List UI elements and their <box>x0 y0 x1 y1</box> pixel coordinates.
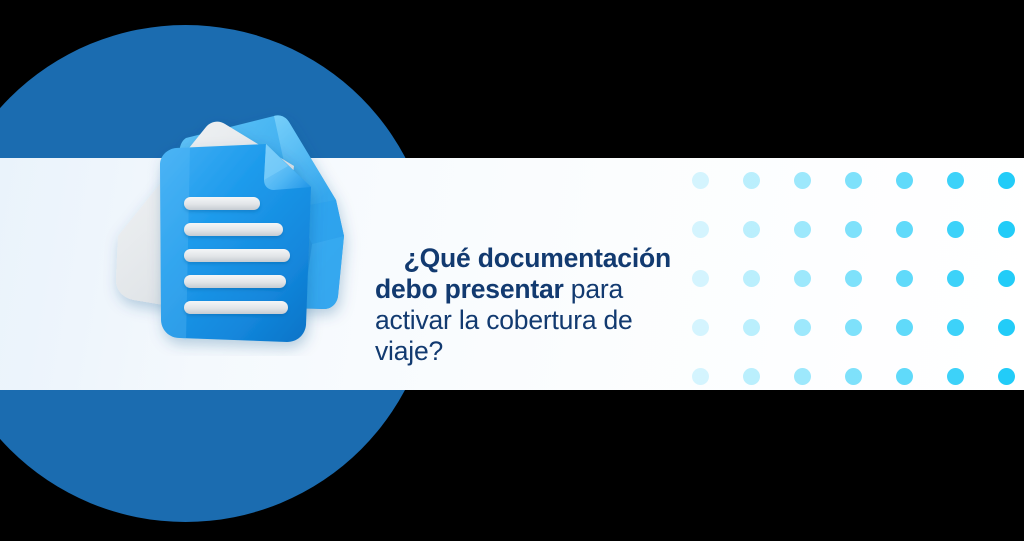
grid-dot <box>743 221 760 238</box>
grid-dot <box>998 319 1015 336</box>
banner-canvas: ¿Qué documentación debo presentar para a… <box>0 0 1024 541</box>
grid-dot <box>896 319 913 336</box>
grid-dot <box>998 270 1015 287</box>
grid-dot <box>743 270 760 287</box>
grid-dot <box>794 270 811 287</box>
front-blue-page <box>160 144 311 342</box>
dot-grid-row <box>692 172 1024 189</box>
headline-bold-text: ¿Qué documentación debo presentar <box>375 243 678 304</box>
grid-dot <box>947 270 964 287</box>
grid-dot <box>845 172 862 189</box>
grid-dot <box>947 368 964 385</box>
dot-grid-row <box>692 270 1024 287</box>
dot-grid-row <box>692 221 1024 238</box>
decorative-dot-grid <box>692 172 1024 384</box>
grid-dot <box>743 368 760 385</box>
grid-dot <box>998 221 1015 238</box>
grid-dot <box>896 368 913 385</box>
grid-dot <box>998 172 1015 189</box>
grid-dot <box>998 368 1015 385</box>
grid-dot <box>896 221 913 238</box>
grid-dot <box>947 221 964 238</box>
grid-dot <box>947 319 964 336</box>
grid-dot <box>947 172 964 189</box>
grid-dot <box>794 172 811 189</box>
documents-stack-illustration <box>98 104 368 356</box>
grid-dot <box>692 172 709 189</box>
dot-grid-row <box>692 319 1024 336</box>
grid-dot <box>794 221 811 238</box>
grid-dot <box>845 368 862 385</box>
grid-dot <box>896 270 913 287</box>
grid-dot <box>743 172 760 189</box>
grid-dot <box>845 221 862 238</box>
grid-dot <box>743 319 760 336</box>
question-headline: ¿Qué documentación debo presentar para a… <box>375 212 705 398</box>
grid-dot <box>794 368 811 385</box>
grid-dot <box>845 319 862 336</box>
grid-dot <box>896 172 913 189</box>
grid-dot <box>794 319 811 336</box>
grid-dot <box>845 270 862 287</box>
dot-grid-row <box>692 368 1024 385</box>
